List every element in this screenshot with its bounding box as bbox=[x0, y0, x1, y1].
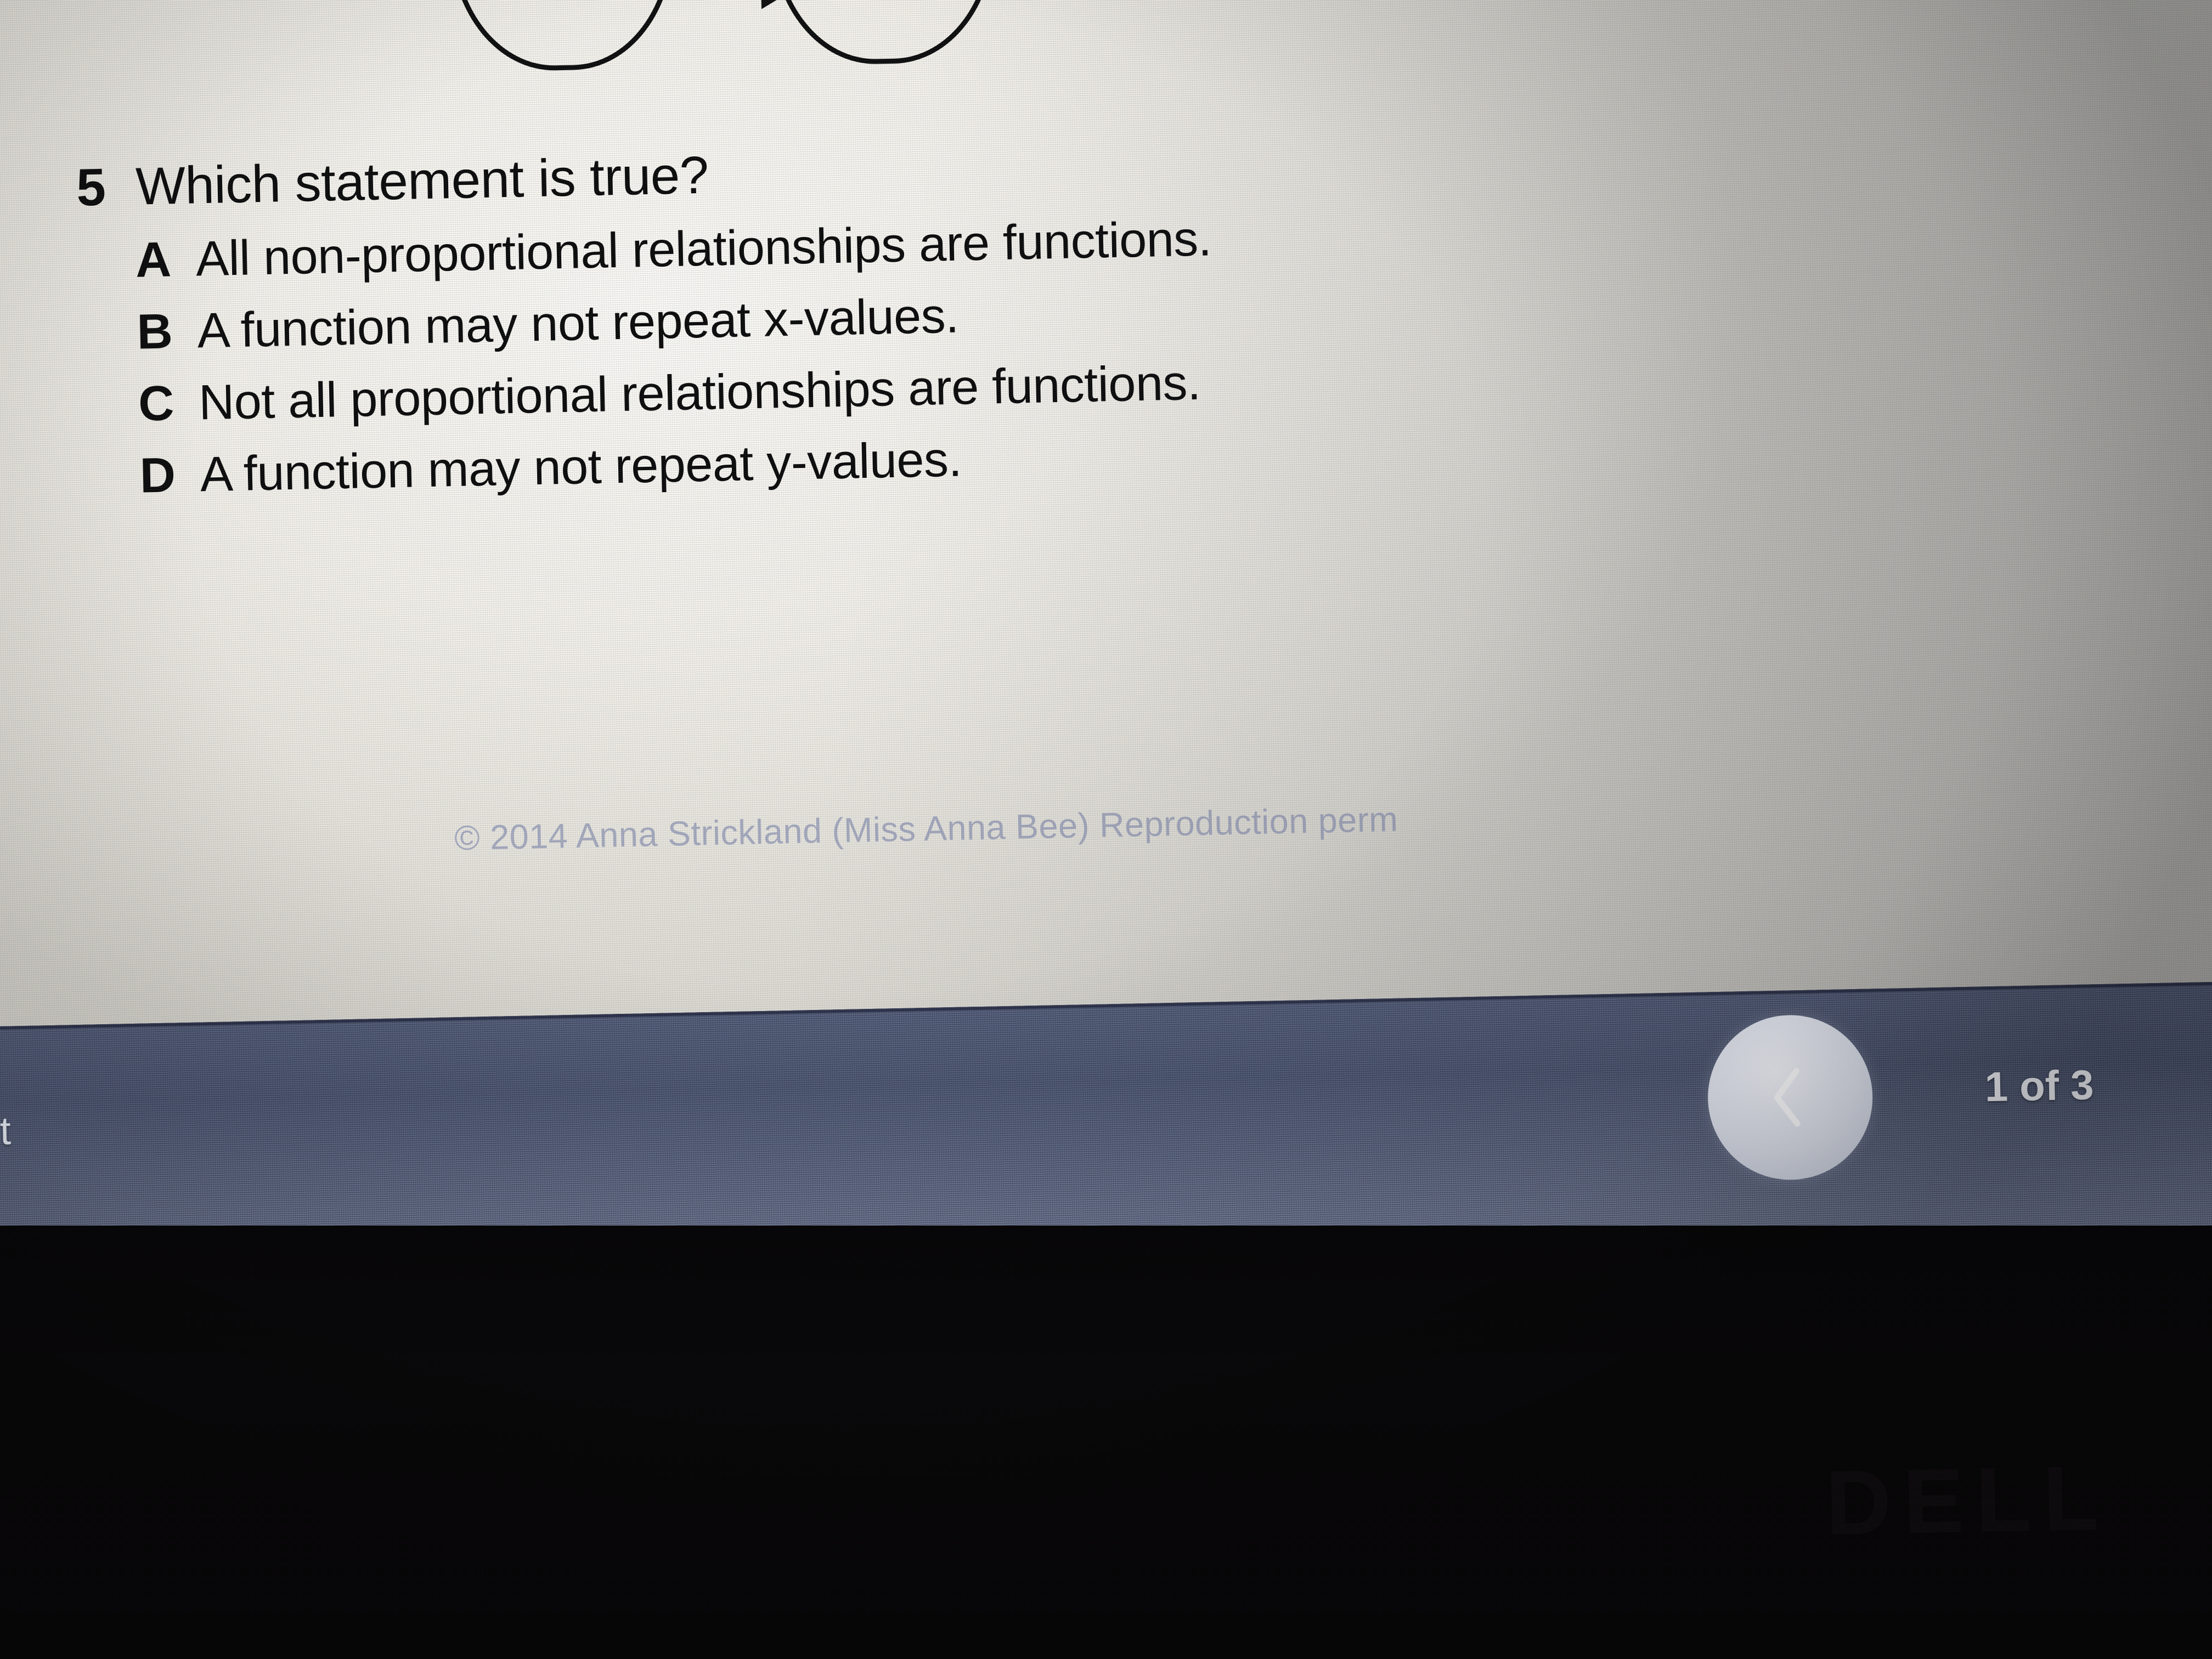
choice-text-c: Not all proportional relationships are f… bbox=[198, 355, 1201, 432]
choice-letter-d: D bbox=[139, 447, 201, 504]
choice-letter-b: B bbox=[137, 303, 198, 360]
question-block: 5 Which statement is true? A All non-pro… bbox=[76, 117, 2112, 506]
choice-text-a: All non-proportional relationships are f… bbox=[195, 211, 1212, 287]
pdf-document-page[interactable]: 16 15 5 Which statement is true? A All n… bbox=[0, 0, 2212, 1027]
chevron-left-icon bbox=[1769, 1065, 1806, 1130]
choice-letter-a: A bbox=[135, 231, 196, 289]
question-prompt: Which statement is true? bbox=[135, 145, 709, 217]
monitor-screen-content: 16 15 5 Which statement is true? A All n… bbox=[0, 0, 2212, 1307]
choice-text-d: A function may not repeat y-values. bbox=[200, 432, 962, 504]
zoom-out-button[interactable]: Out bbox=[0, 1109, 12, 1155]
previous-page-button[interactable] bbox=[1706, 1013, 1874, 1181]
choice-text-b: A function may not repeat x-values. bbox=[197, 288, 960, 360]
arrow-right-icon bbox=[761, 0, 798, 9]
page-indicator: 1 of 3 bbox=[1984, 1061, 2094, 1111]
question-number: 5 bbox=[76, 157, 136, 218]
mapping-oval-right bbox=[769, 0, 997, 66]
choice-letter-c: C bbox=[138, 375, 199, 432]
monitor-bezel: DELL bbox=[0, 1226, 2212, 1659]
mapping-oval-left bbox=[448, 0, 676, 72]
dell-logo: DELL bbox=[1825, 1446, 2111, 1555]
monitor-photo: 16 15 5 Which statement is true? A All n… bbox=[0, 0, 2212, 1659]
copyright-notice: © 2014 Anna Strickland (Miss Anna Bee) R… bbox=[454, 781, 2212, 858]
